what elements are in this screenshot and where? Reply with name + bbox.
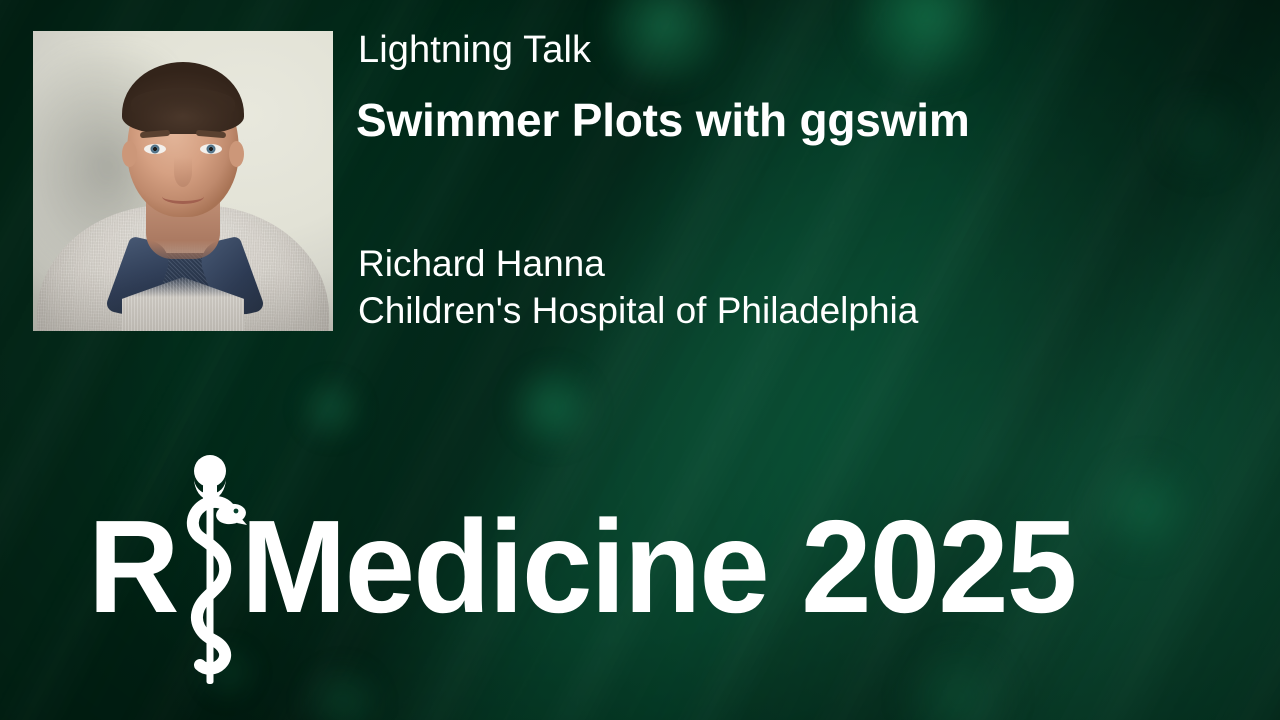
photo-mouth: [162, 189, 204, 204]
speaker-name: Richard Hanna: [358, 240, 918, 287]
photo-eye-left: [144, 144, 166, 154]
speaker-affiliation: Children's Hospital of Philadelphia: [358, 287, 918, 334]
photo-bottom-shading: [33, 271, 333, 331]
page-title: Swimmer Plots with ggswim: [356, 94, 970, 147]
photo-nose: [174, 157, 192, 187]
logo-wordmark: Medicine 2025: [241, 508, 1075, 626]
rmedicine-logo: R: [88, 508, 1110, 638]
photo-eyebrow-right: [196, 130, 226, 139]
photo-eyebrow-left: [140, 130, 170, 139]
rod-of-asclepius-icon: [177, 508, 243, 638]
photo-ear-right: [229, 141, 244, 167]
logo-letter-r: R: [88, 508, 178, 626]
speaker-info: Richard Hanna Children's Hospital of Phi…: [358, 240, 918, 334]
photo-eye-right: [200, 144, 222, 154]
talk-kicker: Lightning Talk: [358, 30, 591, 72]
photo-head: [127, 69, 239, 217]
talk-title-slide: Lightning Talk Swimmer Plots with ggswim…: [0, 0, 1280, 720]
photo-ear-left: [122, 141, 137, 167]
speaker-photo: [33, 31, 333, 331]
